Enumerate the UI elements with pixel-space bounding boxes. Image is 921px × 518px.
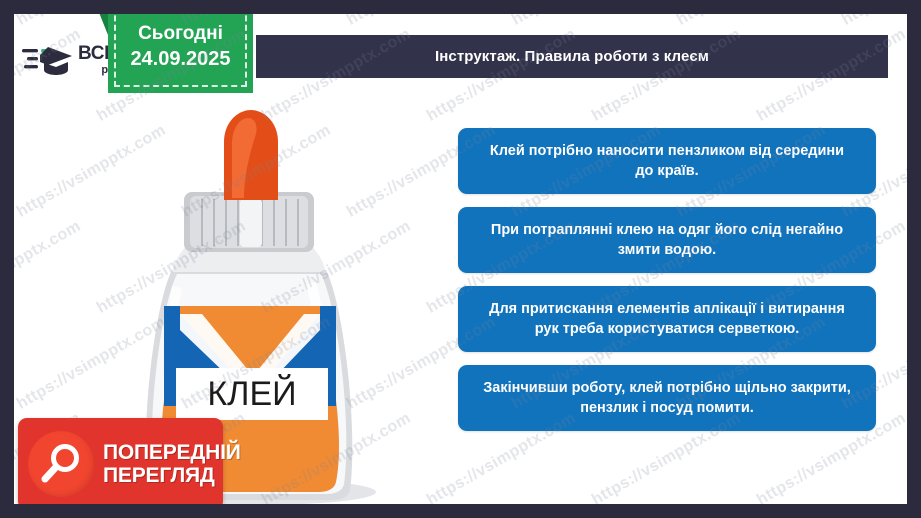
page-title: Інструктаж. Правила роботи з клеєм xyxy=(435,48,709,65)
watermark-text: https://vsimpptx.com xyxy=(674,14,829,30)
date-badge-value: 24.09.2025 xyxy=(130,48,230,71)
graduation-cap-icon xyxy=(22,39,74,81)
rule-item-1: Клей потрібно наносити пензликом від сер… xyxy=(458,128,876,194)
watermark-text: https://vsimpptx.com xyxy=(14,218,84,318)
watermark-text: https://vsimpptx.com xyxy=(839,14,907,30)
date-badge-label: Сьогодні xyxy=(138,23,223,45)
preview-badge[interactable]: ПОПЕРЕДНІЙ ПЕРЕГЛЯД xyxy=(18,418,223,504)
preview-badge-line2: ПЕРЕГЛЯД xyxy=(103,465,241,486)
rule-item-3: Для притискання елементів аплікації і ви… xyxy=(458,286,876,352)
rule-item-4: Закінчивши роботу, клей потрібно щільно … xyxy=(458,365,876,431)
slide-header-bar: Інструктаж. Правила роботи з клеєм xyxy=(256,35,888,78)
rule-item-2: При потраплянні клею на одяг його слід н… xyxy=(458,207,876,273)
watermark-text: https://vsimpptx.com xyxy=(509,14,664,30)
date-badge: Сьогодні 24.09.2025 xyxy=(108,14,253,93)
rules-list: Клей потрібно наносити пензликом від сер… xyxy=(458,128,876,431)
watermark-text: https://vsimpptx.com xyxy=(344,14,499,30)
magnifier-icon xyxy=(28,431,94,497)
slide-canvas: КЛЕЙ xyxy=(14,14,907,504)
slide-viewer: КЛЕЙ xyxy=(0,0,921,518)
svg-text:КЛЕЙ: КЛЕЙ xyxy=(207,375,296,413)
preview-badge-line1: ПОПЕРЕДНІЙ xyxy=(103,442,241,463)
